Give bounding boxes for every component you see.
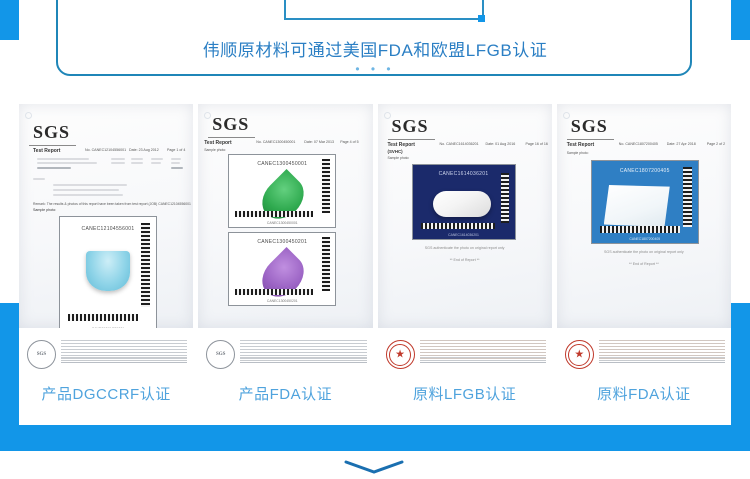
- sgs-logo: SGS: [392, 116, 429, 137]
- sample-photo-code: CANEC1300450001: [229, 161, 335, 167]
- sample-photo: CANEC12104556001 CANEC12104556001: [59, 216, 157, 328]
- report-label: Test Report: [388, 142, 415, 148]
- sgs-seal-icon: SGS: [206, 340, 235, 369]
- sample-photo-caption: CANEC1807200405: [592, 237, 698, 241]
- sgs-seal-icon: SGS: [27, 340, 56, 369]
- letterhead-block: SGS: [19, 336, 193, 371]
- report-number: No. CANEC1807200405: [619, 142, 658, 146]
- certificate-label: 原料LFGB认证: [413, 383, 516, 404]
- report-endnote: SGS authenticate the photo on original r…: [378, 246, 552, 250]
- report-date: Date: 01 Aug 2016: [486, 142, 516, 146]
- letterhead-rule: [599, 362, 725, 363]
- scroll-down-chevron-icon[interactable]: [0, 456, 750, 479]
- report-label: Test Report: [204, 140, 231, 146]
- report-label: Test Report: [33, 148, 60, 154]
- sample-photo-caption: CANEC12104556001: [60, 327, 156, 328]
- certificate-label: 产品FDA认证: [239, 383, 333, 404]
- product-image: [604, 185, 670, 227]
- letterhead-block: ★: [378, 336, 552, 371]
- letterhead-rule: [61, 362, 187, 363]
- product-image: [254, 247, 312, 305]
- sample-photo: CANEC1300450201 CANEC1300450201: [228, 232, 336, 306]
- report-page: Page 16 of 16: [526, 142, 548, 146]
- certificate-card[interactable]: SGS Test Report No. CANEC1807200405 Date…: [557, 104, 731, 404]
- letterhead-footer-lines: [61, 355, 187, 361]
- certificate-card[interactable]: SGS Test Report No. CANEC12104556001 Dat…: [19, 104, 193, 404]
- sgs-logo: SGS: [212, 114, 249, 135]
- report-number: No. CANEC12104556001: [85, 148, 126, 152]
- sample-photo: CANEC1807200405 CANEC1807200405: [591, 160, 699, 244]
- letterhead-footer-lines: [240, 355, 366, 361]
- report-date: Date: 23 Aug 2012: [129, 148, 159, 152]
- sample-photo-label: Sample photo:: [33, 208, 56, 212]
- sgs-logo: SGS: [33, 122, 70, 143]
- certificate-scan-image: SGS Test Report No. CANEC1807200405 Date…: [557, 104, 731, 328]
- product-image: [433, 191, 491, 217]
- certificate-scan-image: SGS Test Report (SVHC) No. CANEC16140362…: [378, 104, 552, 328]
- letterhead-rule: [240, 362, 366, 363]
- certificate-strip: SGS Test Report No. CANEC12104556001 Dat…: [19, 104, 731, 404]
- letterhead-footer-lines: [599, 355, 725, 361]
- star-seal-icon: ★: [386, 340, 415, 369]
- certificate-card[interactable]: SGS Test Report No. CANEC1300450001 Date…: [198, 104, 372, 404]
- report-number: No. CANEC1614036201: [440, 142, 479, 146]
- bottom-blue-band: [0, 425, 750, 451]
- certificate-card[interactable]: SGS Test Report (SVHC) No. CANEC16140362…: [378, 104, 552, 404]
- report-label: Test Report: [567, 142, 594, 148]
- report-page: Page 4 of 5: [340, 140, 358, 144]
- report-endnote: SGS authenticate the photo on original r…: [557, 250, 731, 254]
- report-page: Page 2 of 2: [707, 142, 725, 146]
- letterhead-rule: [420, 362, 546, 363]
- certificate-label: 产品DGCCRF认证: [42, 383, 171, 404]
- report-end-marker: ** End of Report **: [557, 262, 731, 266]
- report-date: Date: 07 Mar 2013: [304, 140, 334, 144]
- decor-bar-top-right: [731, 0, 750, 40]
- product-image: [254, 169, 312, 227]
- certificate-scan-image: SGS Test Report No. CANEC12104556001 Dat…: [19, 104, 193, 328]
- report-number: No. CANEC1300450001: [256, 140, 295, 144]
- sample-photo-code: CANEC1614036201: [413, 171, 515, 177]
- section-subtitle: 伟顺原材料可通过美国FDA和欧盟LFGB认证: [0, 36, 750, 61]
- star-seal-icon: ★: [565, 340, 594, 369]
- product-image: [86, 251, 130, 291]
- report-page: Page 1 of 4: [167, 148, 185, 152]
- sample-photo: CANEC1300450001 CANEC1300450001: [228, 154, 336, 228]
- sample-photo-caption: CANEC1614036201: [413, 233, 515, 237]
- certification-section: 检测认证 伟顺原材料可通过美国FDA和欧盟LFGB认证 • • • SGS Te…: [0, 0, 750, 479]
- letterhead-footer-lines: [420, 355, 546, 361]
- decor-dots: • • •: [0, 62, 750, 76]
- sgs-logo: SGS: [571, 116, 608, 137]
- sample-photo-label: Sample photo:: [388, 156, 410, 160]
- sample-photo-label: Sample photo:: [204, 148, 226, 152]
- sample-photo-label: Sample photo:: [567, 151, 589, 155]
- section-title-box: 检测认证: [284, 0, 484, 20]
- decor-bar-top-left: [0, 0, 19, 40]
- certificate-label: 原料FDA认证: [597, 383, 691, 404]
- report-end-marker: ** End of Report **: [378, 258, 552, 262]
- certificate-scan-image: SGS Test Report No. CANEC1300450001 Date…: [198, 104, 372, 328]
- sample-note: Remark: The results & photos of this rep…: [33, 202, 191, 206]
- sample-photo-caption: CANEC1300450001: [229, 221, 335, 225]
- sample-photo-code: CANEC1300450201: [229, 239, 335, 245]
- letterhead-block: ★: [557, 336, 731, 371]
- letterhead-block: SGS: [198, 336, 372, 371]
- title-corner-dot: [478, 15, 485, 22]
- sample-photo: CANEC1614036201 CANEC1614036201: [412, 164, 516, 240]
- sample-photo-caption: CANEC1300450201: [229, 299, 335, 303]
- report-subtitle: (SVHC): [388, 149, 403, 154]
- report-date: Date: 27 Apr 2018: [667, 142, 696, 146]
